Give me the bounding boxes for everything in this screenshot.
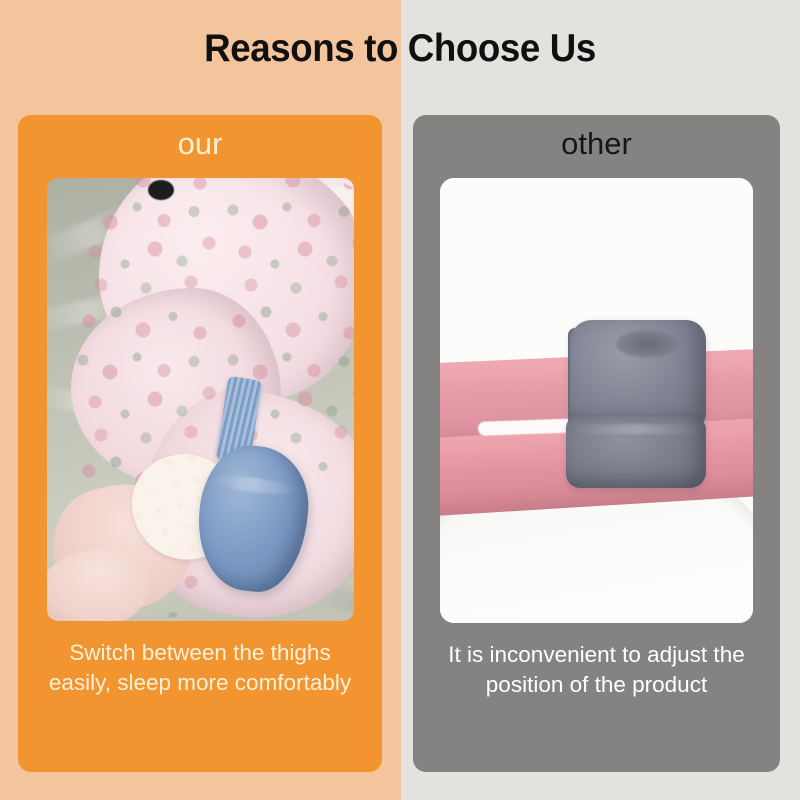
comparison-infographic: Reasons to Choose Us our	[0, 0, 800, 800]
our-panel-label: our	[178, 125, 223, 164]
grey-cushion-seam	[570, 424, 702, 434]
page-title: Reasons to Choose Us	[24, 27, 776, 71]
dark-detail	[148, 180, 174, 200]
other-product-photo	[440, 178, 753, 623]
our-product-photo	[47, 178, 354, 621]
grey-cushion-indent	[616, 330, 678, 358]
our-panel-caption: Switch between the thighs easily, sleep …	[40, 638, 360, 698]
other-panel-label: other	[561, 125, 632, 164]
other-panel: other It is inconvenient to adjust the p…	[413, 115, 780, 772]
other-panel-caption: It is inconvenient to adjust the positio…	[437, 640, 757, 700]
our-panel: our Switch between the thighs	[18, 115, 382, 772]
